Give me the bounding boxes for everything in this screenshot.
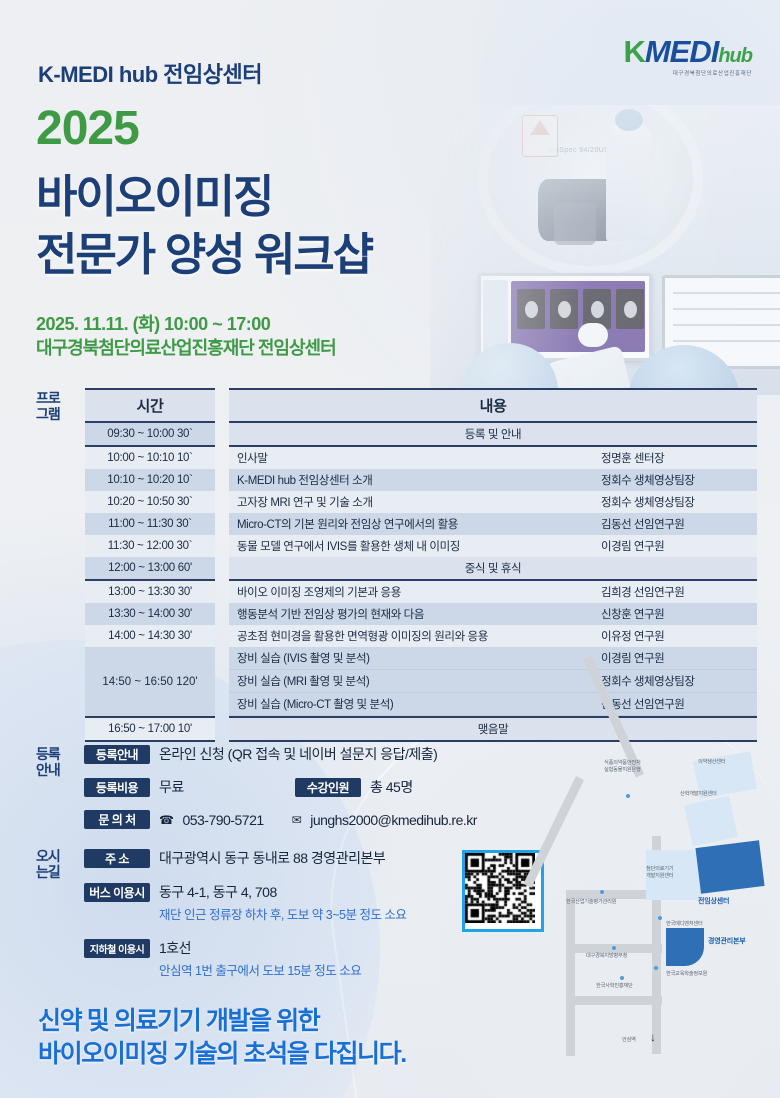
row-time: 16:50 ~ 17:00 10' xyxy=(85,716,215,742)
fee-tag: 등록비용 xyxy=(84,778,150,797)
table-row-merged: 14:50 ~ 16:50 120'장비 실습 (IVIS 촬영 및 분석)이경… xyxy=(85,647,757,716)
map-direction-arrow-icon: ↓ xyxy=(650,1030,656,1044)
row-speaker: 정회수 생체영상팀장 xyxy=(601,494,749,510)
section-label-registration: 등록 안내 xyxy=(36,746,60,778)
contact-tag: 문 의 처 xyxy=(84,810,150,829)
map-label-4: 한국산업기술평가관리원 xyxy=(566,898,616,905)
row-content: 중식 및 휴식 xyxy=(229,557,757,581)
row-content: 등록 및 안내 xyxy=(229,423,757,447)
event-datetime: 2025. 11.11. (화) 10:00 ~ 17:00 xyxy=(36,310,270,336)
location-map: 식품의약품안전처실험동물지원은행 의약생산센터 산학개발지원센터 첨단의료기기개… xyxy=(548,748,776,1060)
event-venue: 대구경북첨단의료산업진흥재단 전임상센터 xyxy=(36,334,336,360)
map-label-9: 안심역 xyxy=(622,1036,636,1043)
footer-line-1: 신약 및 의료기기 개발을 위한 xyxy=(38,1005,406,1038)
directions-address-row: 주 소 대구광역시 동구 동내로 88 경영관리본부 xyxy=(84,848,385,868)
registration-label-line2: 안내 xyxy=(36,762,60,778)
table-row: 10:10 ~ 10:20 10`K-MEDI hub 전임상센터 소개정회수 … xyxy=(85,469,757,491)
program-table: 시간 내용 09:30 ~ 10:00 30`등록 및 안내10:00 ~ 10… xyxy=(85,388,757,742)
program-label-line2: 그램 xyxy=(36,406,60,422)
row-content: 동물 모델 연구에서 IVIS를 활용한 생체 내 이미징이경림 연구원 xyxy=(229,535,757,557)
map-label-3: 첨단의료기기개발지원센터 xyxy=(646,866,673,880)
row-speaker: 정명훈 센터장 xyxy=(601,450,749,466)
apply-value: 온라인 신청 (QR 접속 및 네이버 설문지 응답/제출) xyxy=(159,744,437,764)
row-speaker: 정회수 생체영상팀장 xyxy=(601,472,749,488)
subway-note: 안심역 1번 출구에서 도보 15분 정도 소요 xyxy=(159,960,361,979)
table-row: 13:00 ~ 13:30 30'바이오 이미징 조영제의 기본과 응용김희경 … xyxy=(85,581,757,603)
row-speaker: 신창훈 연구원 xyxy=(601,606,749,622)
kicker-text: K-MEDI hub 전임상센터 xyxy=(38,57,262,89)
registration-label-line1: 등록 xyxy=(36,746,60,762)
lab-photo: BioSpec 94/20USR xyxy=(430,105,780,395)
registration-capacity-row: 수강인원 총 45명 xyxy=(295,777,413,797)
row-content: 맺음말 xyxy=(229,716,757,742)
row-time: 11:00 ~ 11:30 30` xyxy=(85,513,215,535)
map-label-7: 한국교육학술정보원 xyxy=(666,970,707,977)
table-row: 12:00 ~ 13:00 60'중식 및 휴식 xyxy=(85,557,757,581)
row-time: 11:30 ~ 12:00 30` xyxy=(85,535,215,557)
row-speaker: 김동선 선임연구원 xyxy=(601,696,749,712)
map-label-preclinical-center: 전임상센터 xyxy=(698,896,729,906)
registration-apply-row: 등록안내 온라인 신청 (QR 접속 및 네이버 설문지 응답/제출) xyxy=(84,744,437,764)
row-time: 10:10 ~ 10:20 10` xyxy=(85,469,215,491)
map-label-2: 산학개발지원센터 xyxy=(680,790,717,797)
bus-value: 동구 4-1, 동구 4, 708 xyxy=(159,882,406,902)
map-label-0: 식품의약품안전처실험동물지원은행 xyxy=(604,760,641,774)
row-speaker: 김동선 선임연구원 xyxy=(601,516,749,532)
section-label-directions: 오시 는길 xyxy=(36,848,60,880)
map-label-admin-hq: 경영관리본부 xyxy=(708,936,745,946)
table-header-row: 시간 내용 xyxy=(85,388,757,423)
row-content: Micro-CT의 기본 원리와 전임상 연구에서의 활용김동선 선임연구원 xyxy=(229,513,757,535)
footer-line-2: 바이오이미징 기술의 초석을 다집니다. xyxy=(38,1038,406,1071)
column-header-time: 시간 xyxy=(85,388,215,423)
row-time: 14:00 ~ 14:30 30' xyxy=(85,625,215,647)
title-line-2: 전문가 양성 워크샵 xyxy=(36,226,372,284)
table-row: 10:20 ~ 10:50 30`고자장 MRI 연구 및 기술 소개정회수 생… xyxy=(85,491,757,513)
apply-tag: 등록안내 xyxy=(84,745,150,764)
title-line-1: 바이오이미징 xyxy=(36,168,372,226)
row-time: 10:20 ~ 10:50 30` xyxy=(85,491,215,513)
registration-contact-row: 문 의 처 ☎ 053-790-5721 ✉ junghs2000@kmedih… xyxy=(84,810,477,829)
row-speaker: 이유정 연구원 xyxy=(601,628,749,644)
registration-fee-row: 등록비용 무료 xyxy=(84,777,184,797)
row-content: 고자장 MRI 연구 및 기술 소개정회수 생체영상팀장 xyxy=(229,491,757,513)
row-content: K-MEDI hub 전임상센터 소개정회수 생체영상팀장 xyxy=(229,469,757,491)
directions-bus-row: 버스 이용시 동구 4-1, 동구 4, 708 재단 인근 정류장 하차 후,… xyxy=(84,882,406,923)
logo-k-text: K xyxy=(623,34,644,69)
table-row: 09:30 ~ 10:00 30`등록 및 안내 xyxy=(85,423,757,447)
capacity-value: 총 45명 xyxy=(370,777,413,797)
merged-item: 장비 실습 (IVIS 촬영 및 분석)이경림 연구원 xyxy=(229,647,757,670)
row-speaker: 이경림 연구원 xyxy=(601,538,749,554)
capacity-tag: 수강인원 xyxy=(295,778,361,797)
row-time: 13:30 ~ 14:00 30' xyxy=(85,603,215,625)
table-row-closing: 16:50 ~ 17:00 10'맺음말 xyxy=(85,716,757,742)
directions-label-line2: 는길 xyxy=(36,864,60,880)
bus-block: 동구 4-1, 동구 4, 708 재단 인근 정류장 하차 후, 도보 약 3… xyxy=(159,882,406,923)
year-text: 2025 xyxy=(36,105,139,153)
row-time: 09:30 ~ 10:00 30` xyxy=(85,423,215,447)
table-row: 13:30 ~ 14:00 30'행동분석 기반 전임상 평가의 현재와 다음신… xyxy=(85,603,757,625)
row-time: 12:00 ~ 13:00 60' xyxy=(85,557,215,581)
map-label-1: 의약생산센터 xyxy=(698,758,725,765)
merged-item: 장비 실습 (MRI 촬영 및 분석)정회수 생체영상팀장 xyxy=(229,670,757,693)
address-tag: 주 소 xyxy=(84,849,150,868)
subway-value: 1호선 xyxy=(159,938,361,958)
row-content: 인사말정명훈 센터장 xyxy=(229,447,757,469)
logo-medi-text: MEDI xyxy=(645,34,719,69)
address-value: 대구광역시 동구 동내로 88 경영관리본부 xyxy=(159,848,385,868)
kmedihub-logo: KMEDIhub 대구경북첨단의료산업진흥재단 xyxy=(623,36,752,77)
bus-tag: 버스 이용시 xyxy=(84,883,150,902)
table-row: 11:00 ~ 11:30 30`Micro-CT의 기본 원리와 전임상 연구… xyxy=(85,513,757,535)
footer-slogan: 신약 및 의료기기 개발을 위한 바이오이미징 기술의 초석을 다집니다. xyxy=(38,1005,406,1071)
phone-value[interactable]: 053-790-5721 xyxy=(182,812,263,828)
page-title: 바이오이미징 전문가 양성 워크샵 xyxy=(36,168,372,283)
section-label-program: 프로 그램 xyxy=(36,390,60,422)
subway-tag: 지하철 이용시 xyxy=(84,939,150,958)
row-content: 공초점 현미경을 활용한 면역형광 이미징의 원리와 응용이유정 연구원 xyxy=(229,625,757,647)
phone-icon: ☎ xyxy=(159,813,173,827)
directions-label-line1: 오시 xyxy=(36,848,60,864)
qr-code[interactable] xyxy=(462,850,544,932)
row-speaker: 이경림 연구원 xyxy=(601,650,749,666)
map-label-6: 대구경북지방병무청 xyxy=(586,952,627,959)
fee-value: 무료 xyxy=(159,777,184,797)
logo-hub-text: hub xyxy=(718,45,752,67)
row-time: 14:50 ~ 16:50 120' xyxy=(85,647,215,716)
column-header-content: 내용 xyxy=(229,388,757,423)
merged-item: 장비 실습 (Micro-CT 촬영 및 분석)김동선 선임연구원 xyxy=(229,693,757,716)
row-speaker: 정회수 생체영상팀장 xyxy=(601,673,749,689)
table-row: 11:30 ~ 12:00 30`동물 모델 연구에서 IVIS를 활용한 생체… xyxy=(85,535,757,557)
table-row: 14:00 ~ 14:30 30'공초점 현미경을 활용한 면역형광 이미징의 … xyxy=(85,625,757,647)
row-speaker: 김희경 선임연구원 xyxy=(601,584,749,600)
subway-block: 1호선 안심역 1번 출구에서 도보 15분 정도 소요 xyxy=(159,938,361,979)
row-content: 행동분석 기반 전임상 평가의 현재와 다음신창훈 연구원 xyxy=(229,603,757,625)
email-value[interactable]: junghs2000@kmedihub.re.kr xyxy=(310,812,477,828)
program-label-line1: 프로 xyxy=(36,390,60,406)
row-time: 13:00 ~ 13:30 30' xyxy=(85,581,215,603)
mail-icon: ✉ xyxy=(292,813,302,827)
poster-root: BioSpec 94/20USR KMEDIhub 대구경북첨단의료산업진흥재 xyxy=(0,0,780,1098)
directions-subway-row: 지하철 이용시 1호선 안심역 1번 출구에서 도보 15분 정도 소요 xyxy=(84,938,361,979)
bus-note: 재단 인근 정류장 하차 후, 도보 약 3~5분 정도 소요 xyxy=(159,904,406,923)
table-row: 10:00 ~ 10:10 10`인사말정명훈 센터장 xyxy=(85,447,757,469)
logo-subtitle: 대구경북첨단의료산업진흥재단 xyxy=(623,69,752,77)
map-label-8: 한국사학진흥재단 xyxy=(596,982,633,989)
map-label-5: 한국메디벤처센터 xyxy=(666,920,703,927)
row-time: 10:00 ~ 10:10 10` xyxy=(85,447,215,469)
row-content: 바이오 이미징 조영제의 기본과 응용김희경 선임연구원 xyxy=(229,581,757,603)
